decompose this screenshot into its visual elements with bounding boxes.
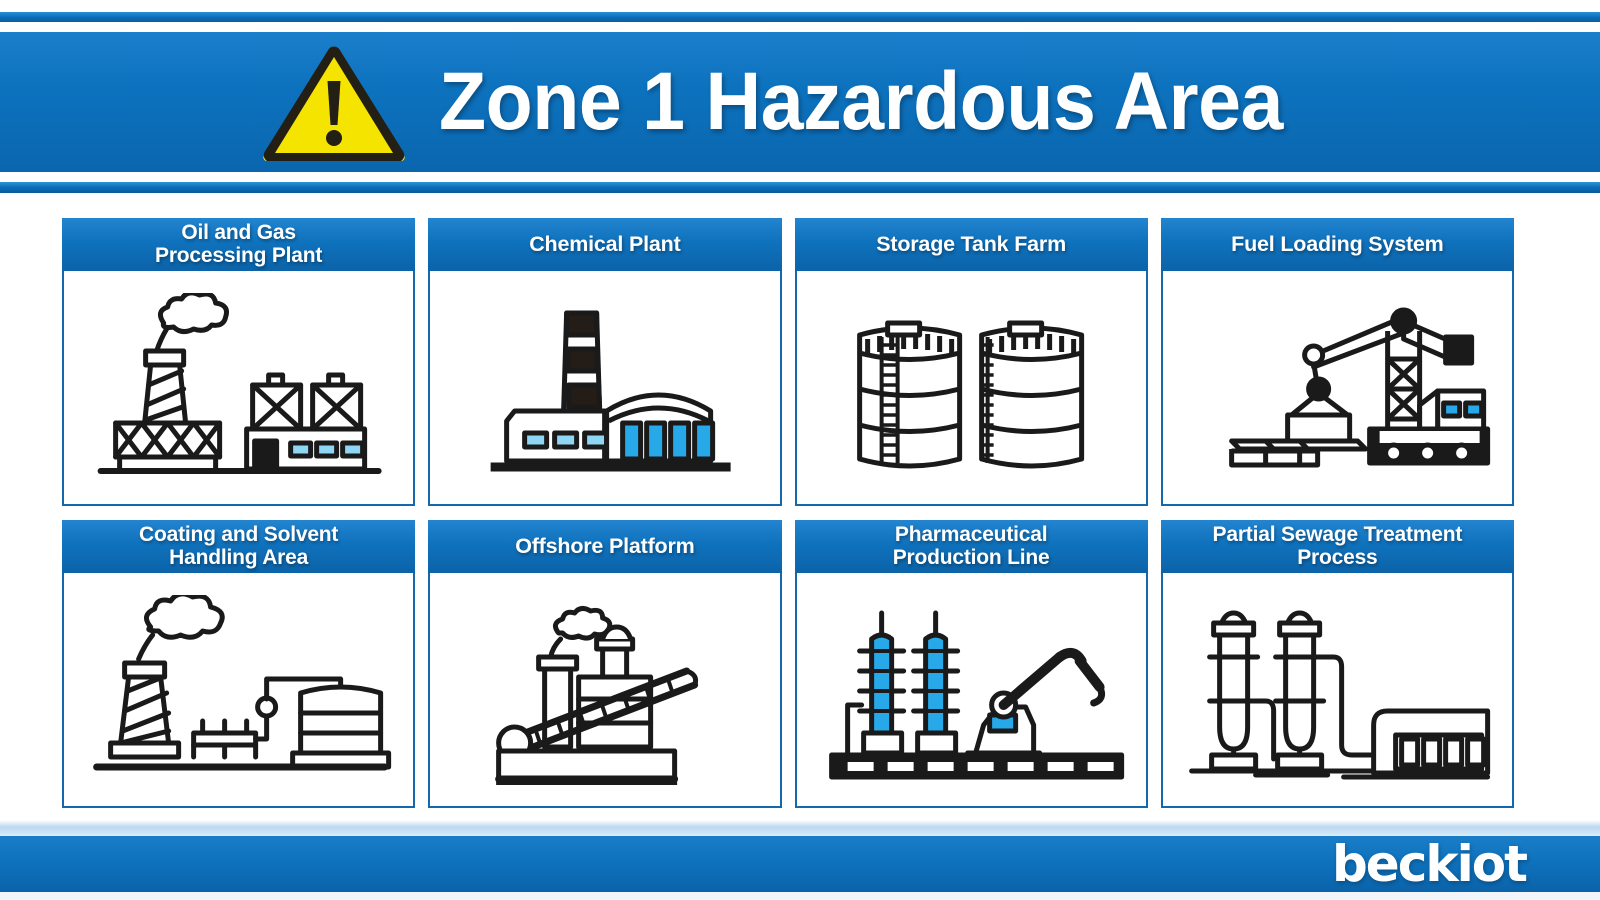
pharmaceutical-production-line-icon xyxy=(805,595,1138,785)
card-coating-solvent-handling[interactable]: Coating and Solvent Handling Area xyxy=(62,520,415,808)
card-title-partial-sewage-treatment: Partial Sewage Treatment Process xyxy=(1161,520,1514,573)
card-illustration-pharmaceutical-production-line xyxy=(795,573,1148,808)
header-inner: Zone 1 Hazardous Area xyxy=(263,43,1337,161)
card-title-coating-solvent-handling: Coating and Solvent Handling Area xyxy=(62,520,415,573)
card-title-fuel-loading-system: Fuel Loading System xyxy=(1161,218,1514,271)
card-illustration-chemical-plant xyxy=(428,271,781,506)
card-title-offshore-platform: Offshore Platform xyxy=(428,520,781,573)
card-chemical-plant[interactable]: Chemical Plant xyxy=(428,218,781,506)
brand-logo: beckiot xyxy=(1332,839,1526,889)
oil-gas-processing-plant-icon xyxy=(72,293,405,483)
top-accent-stripe xyxy=(0,12,1600,22)
card-illustration-coating-solvent-handling xyxy=(62,573,415,808)
header-bottom-stripe xyxy=(0,182,1600,193)
card-title-storage-tank-farm: Storage Tank Farm xyxy=(795,218,1148,271)
card-title-pharmaceutical-production-line: Pharmaceutical Production Line xyxy=(795,520,1148,573)
partial-sewage-treatment-icon xyxy=(1171,595,1504,785)
warning-triangle-icon xyxy=(263,43,405,161)
card-partial-sewage-treatment[interactable]: Partial Sewage Treatment Process xyxy=(1161,520,1514,808)
card-title-chemical-plant: Chemical Plant xyxy=(428,218,781,271)
page-title: Zone 1 Hazardous Area xyxy=(439,61,1283,143)
card-oil-gas-processing-plant[interactable]: Oil and Gas Processing Plant xyxy=(62,218,415,506)
card-illustration-fuel-loading-system xyxy=(1161,271,1514,506)
hazard-area-card-grid: Oil and Gas Processing Plant xyxy=(62,218,1514,808)
coating-solvent-handling-icon xyxy=(72,595,405,785)
chemical-plant-icon xyxy=(438,293,771,483)
card-offshore-platform[interactable]: Offshore Platform xyxy=(428,520,781,808)
card-illustration-offshore-platform xyxy=(428,573,781,808)
header-banner: Zone 1 Hazardous Area xyxy=(0,32,1600,172)
card-illustration-partial-sewage-treatment xyxy=(1161,573,1514,808)
card-pharmaceutical-production-line[interactable]: Pharmaceutical Production Line xyxy=(795,520,1148,808)
card-storage-tank-farm[interactable]: Storage Tank Farm xyxy=(795,218,1148,506)
card-illustration-storage-tank-farm xyxy=(795,271,1148,506)
footer-base-strip xyxy=(0,892,1600,900)
card-illustration-oil-gas-processing-plant xyxy=(62,271,415,506)
card-title-oil-gas-processing-plant: Oil and Gas Processing Plant xyxy=(62,218,415,271)
card-fuel-loading-system[interactable]: Fuel Loading System xyxy=(1161,218,1514,506)
offshore-platform-icon xyxy=(438,595,771,785)
footer-bar: beckiot xyxy=(0,836,1600,892)
fuel-loading-system-icon xyxy=(1171,293,1504,483)
storage-tank-farm-icon xyxy=(805,293,1138,483)
